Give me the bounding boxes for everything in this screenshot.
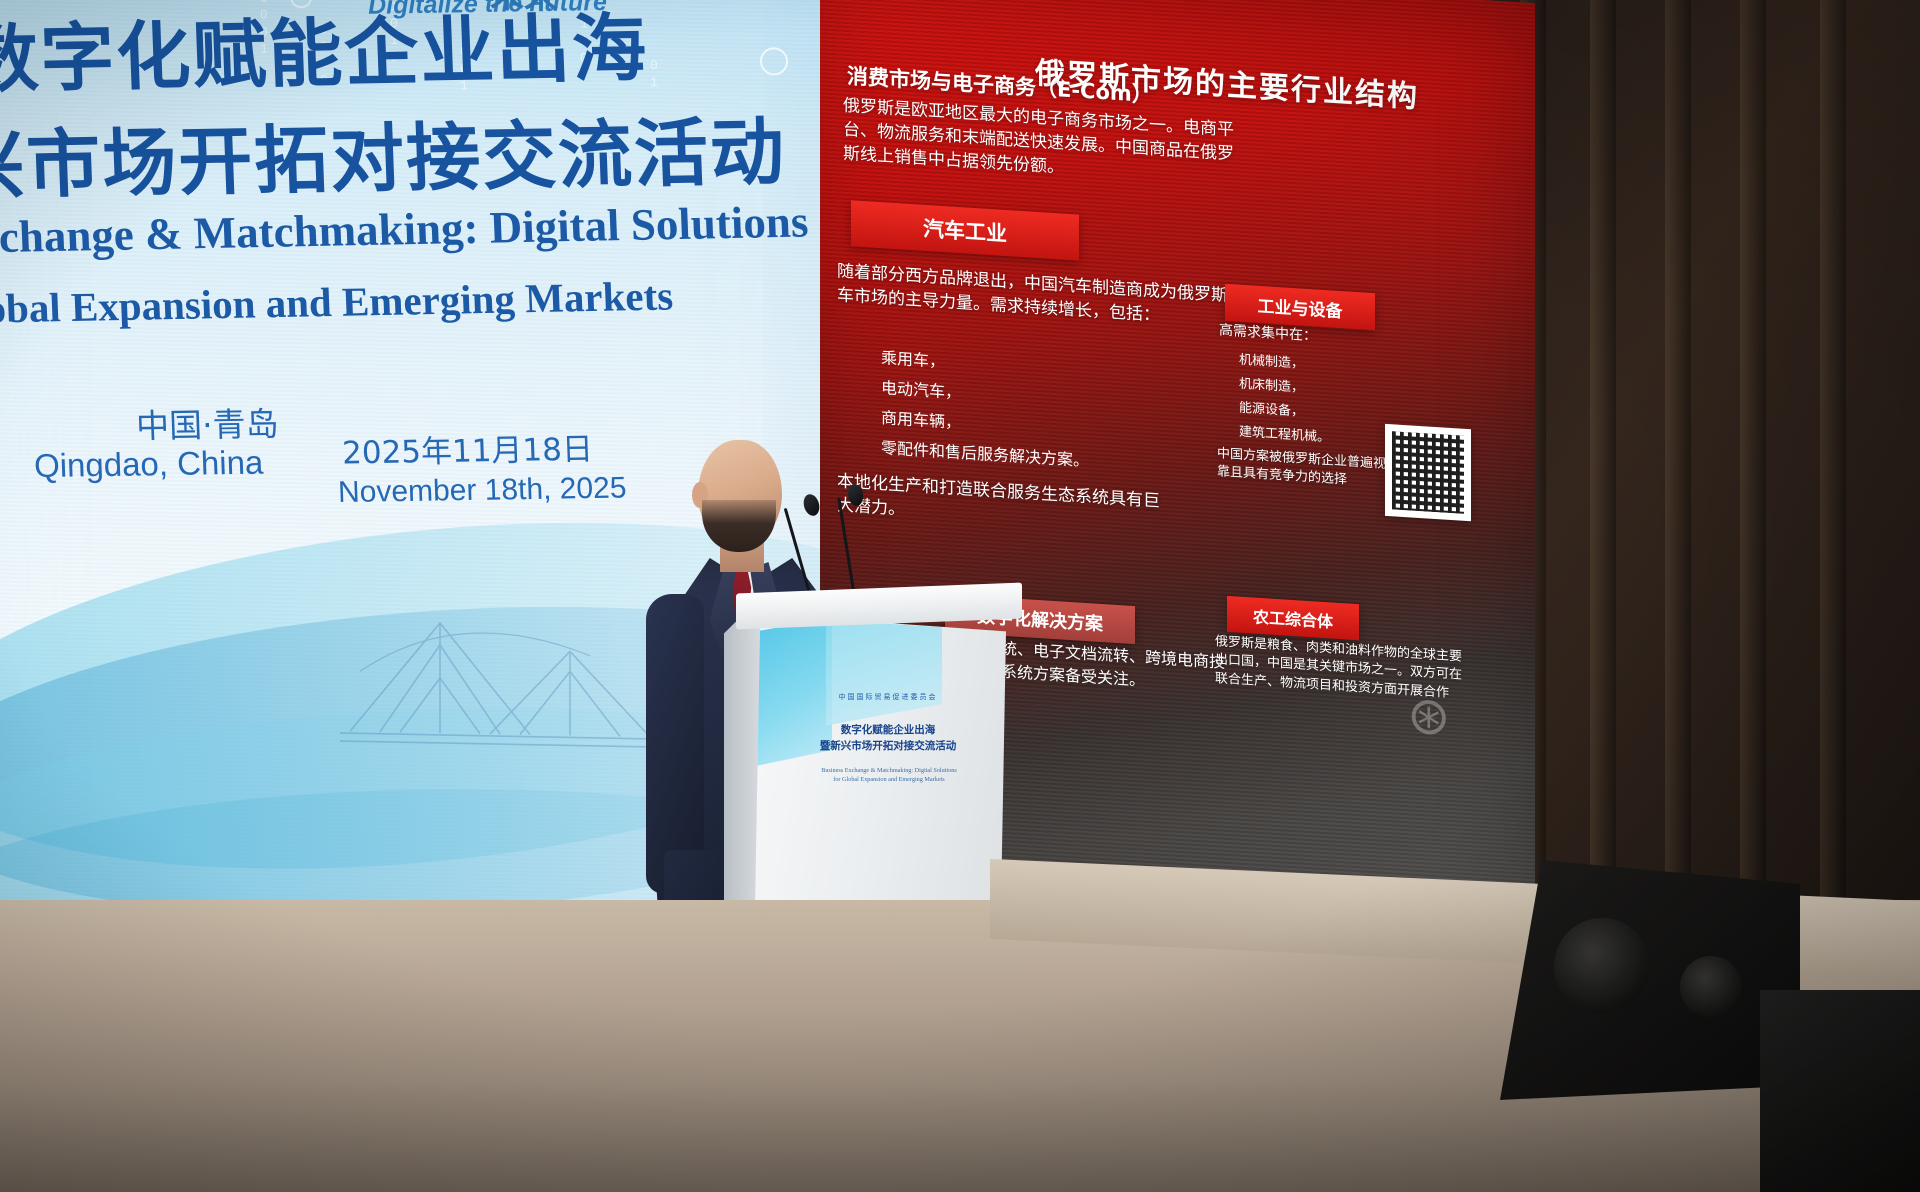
podium-title-cn: 数字化赋能企业出海 暨新兴市场开拓对接交流活动 (798, 722, 978, 755)
left-title-cn-line2: 兴市场开拓对接交流活动 (0, 92, 788, 214)
left-title-cn-line1: 数字化赋能企业出海 (0, 0, 650, 107)
podium-logo-text: 中国国际贸易促进委员会 (808, 692, 968, 702)
beard (702, 500, 776, 552)
bridge-illustration-icon (340, 581, 670, 767)
stage-speaker-cabinet (1500, 860, 1800, 1100)
speaker-cone-icon (1680, 956, 1742, 1018)
conference-stage-photo: 俄罗斯市场的主要行业结构 消费市场与电子商务（E-Com） 俄罗斯是欧亚地区最大… (0, 0, 1920, 1192)
bullet-industry-2: 机床制造， (1239, 373, 1304, 396)
binary-decoration: 01 (650, 57, 659, 91)
podium-top-surface (736, 583, 1022, 630)
bullet-automotive-1: 乘用车， (881, 344, 945, 372)
left-title-en-line2: Global Expansion and Emerging Markets (0, 271, 674, 333)
location-cn: 中国·青岛 (135, 397, 279, 447)
date-en: November 18th, 2025 (337, 472, 627, 511)
date-cn: 2025年11月18日 (341, 424, 593, 473)
left-arm (646, 594, 704, 894)
speaker-cone-icon (1554, 918, 1650, 1014)
bullet-automotive-2: 电动汽车， (881, 374, 961, 403)
bullet-industry-3: 能源设备， (1239, 397, 1304, 420)
podium-title-en-1: Business Exchange & Matchmaking: Digital… (821, 767, 957, 774)
watermark-icon: ⊛ (1407, 685, 1451, 748)
podium-title-cn-1: 数字化赋能企业出海 (841, 724, 936, 736)
podium-title-en: Business Exchange & Matchmaking: Digital… (794, 766, 984, 785)
stage-speaker-cabinet-secondary (1760, 990, 1920, 1192)
bullet-automotive-3: 商用车辆， (881, 404, 961, 433)
podium-title-en-2: for Global Expansion and Emerging Market… (833, 776, 944, 783)
location-en: Qingdao, China (33, 444, 264, 486)
podium-title-cn-2: 暨新兴市场开拓对接交流活动 (820, 740, 957, 752)
bullet-industry-1: 机械制造， (1239, 349, 1304, 372)
circle-decoration (760, 47, 788, 76)
qr-code-icon (1385, 424, 1471, 521)
